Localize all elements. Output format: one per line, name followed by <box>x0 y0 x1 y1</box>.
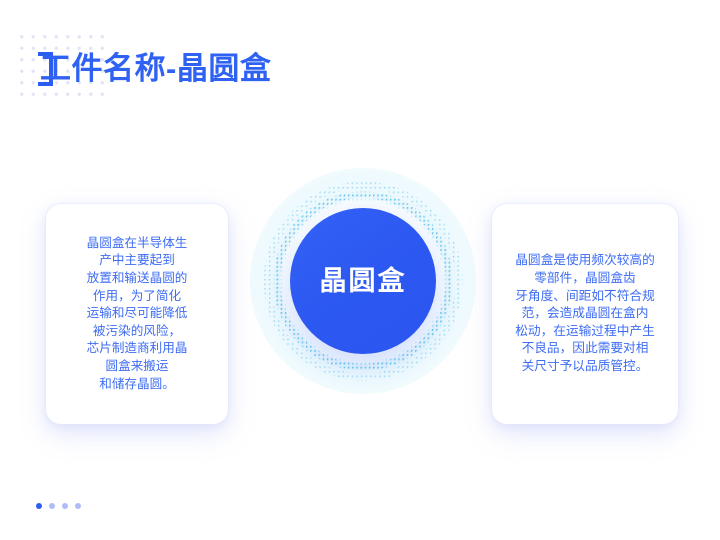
info-card-left: 晶圆盒在半导体生 产中主要起到 放置和输送晶圆的 作用，为了简化 运输和尽可能降… <box>46 204 228 424</box>
pagination-dot-3[interactable] <box>62 503 68 509</box>
pagination-dot-1[interactable] <box>36 503 42 509</box>
pagination-dot-4[interactable] <box>75 503 81 509</box>
info-card-right-text: 晶圆盒是使用频次较高的 零部件，晶圆盒齿 牙角度、间距如不符合规 范，会造成晶圆… <box>515 252 655 375</box>
info-card-right: 晶圆盒是使用频次较高的 零部件，晶圆盒齿 牙角度、间距如不符合规 范，会造成晶圆… <box>492 204 678 424</box>
page-title: 工件名称-晶圆盒 <box>40 50 271 88</box>
info-card-left-text: 晶圆盒在半导体生 产中主要起到 放置和输送晶圆的 作用，为了简化 运输和尽可能降… <box>87 235 188 393</box>
center-graphic: 晶圆盒 <box>250 168 476 394</box>
center-core-circle: 晶圆盒 <box>290 208 436 354</box>
pagination-dot-2[interactable] <box>49 503 55 509</box>
pagination-dots[interactable] <box>36 503 81 509</box>
center-label: 晶圆盒 <box>320 268 407 295</box>
